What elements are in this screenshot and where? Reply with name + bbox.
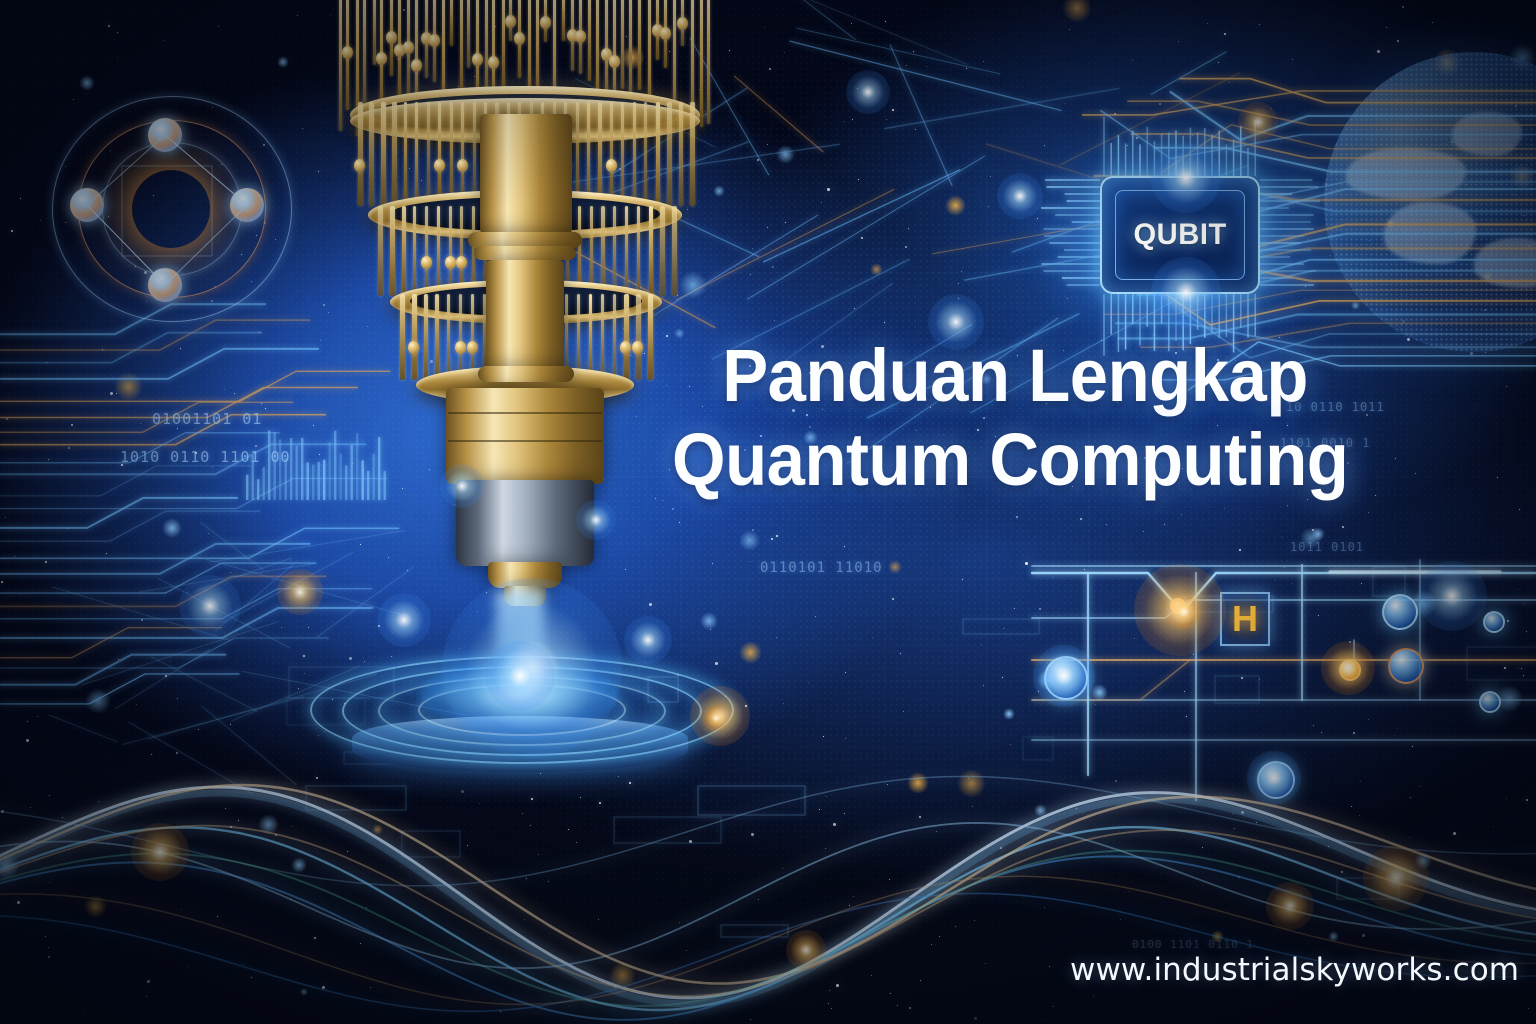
website-url: www.industrialskyworks.com <box>1070 952 1519 988</box>
poster-canvas: QUBIT H 01001101 01 1010 0110 1101 00 01… <box>0 0 1536 1024</box>
vignette <box>0 0 1536 1024</box>
